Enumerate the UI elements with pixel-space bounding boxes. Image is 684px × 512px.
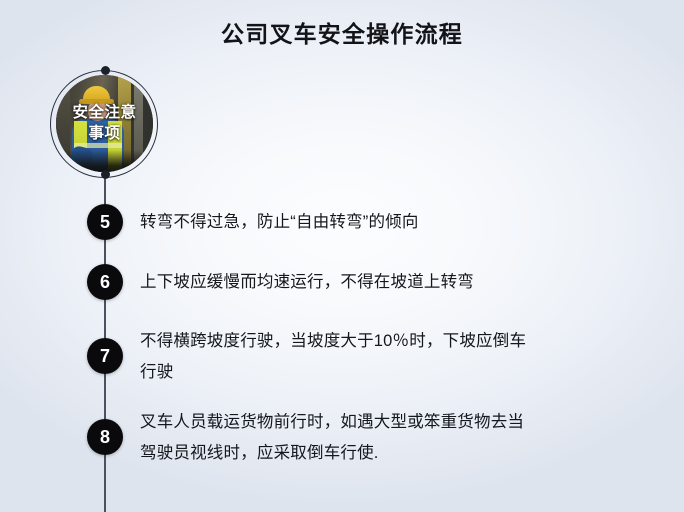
step-number-5: 5 [87, 204, 123, 240]
step-text-line: 上下坡应缓慢而均速运行，不得在坡道上转弯 [140, 267, 660, 298]
step-text-line: 转弯不得过急，防止“自由转弯”的倾向 [140, 207, 660, 238]
step-text-7: 不得横跨坡度行驶，当坡度大于10％时，下坡应倒车 行驶 [140, 326, 660, 388]
step-number-7: 7 [87, 338, 123, 374]
badge-dot-bottom [101, 170, 110, 179]
badge-ring [50, 70, 158, 178]
page-title: 公司叉车安全操作流程 [0, 19, 684, 49]
safety-badge: 安全注意 事项 [50, 70, 162, 182]
step-text-5: 转弯不得过急，防止“自由转弯”的倾向 [140, 207, 660, 238]
step-number-6: 6 [87, 264, 123, 300]
step-text-line: 驾驶员视线时，应采取倒车行使. [140, 438, 660, 469]
step-number-8: 8 [87, 419, 123, 455]
badge-dot-top [101, 66, 110, 75]
step-text-line: 不得横跨坡度行驶，当坡度大于10％时，下坡应倒车 [140, 326, 660, 357]
slide-canvas: 公司叉车安全操作流程 安全注意 事项 5 转弯不得过急，防止“自 [0, 0, 684, 512]
step-text-line: 叉车人员载运货物前行时，如遇大型或笨重货物去当 [140, 407, 660, 438]
step-text-line: 行驶 [140, 357, 660, 388]
step-text-6: 上下坡应缓慢而均速运行，不得在坡道上转弯 [140, 267, 660, 298]
step-text-8: 叉车人员载运货物前行时，如遇大型或笨重货物去当 驾驶员视线时，应采取倒车行使. [140, 407, 660, 469]
